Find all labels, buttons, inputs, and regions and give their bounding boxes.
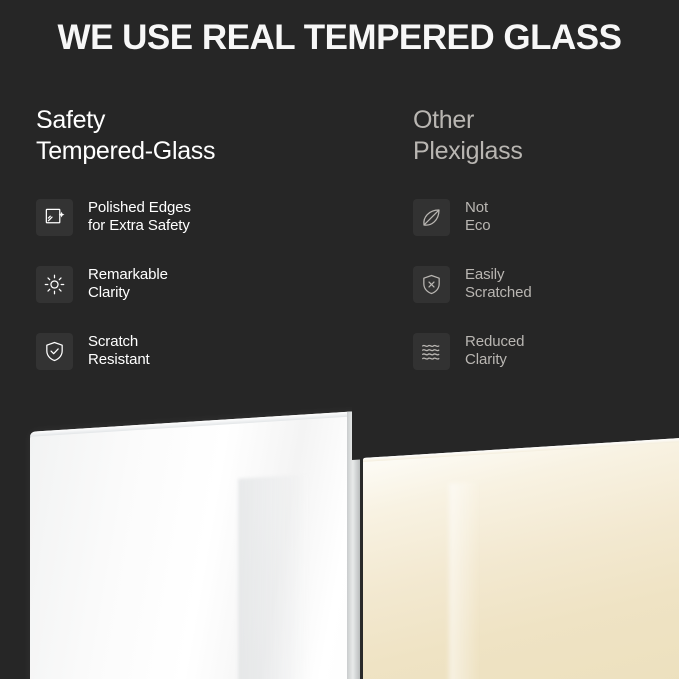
sun-clarity-icon bbox=[36, 266, 73, 303]
column-title-tempered-glass: Safety Tempered-Glass bbox=[36, 105, 336, 167]
column-tempered-glass: Safety Tempered-Glass Polished Edges for… bbox=[36, 105, 336, 396]
feature-list-plexiglass: Not Eco Easily Scratched bbox=[413, 195, 679, 373]
feature-item: Easily Scratched bbox=[413, 262, 679, 306]
tempered-glass-panel bbox=[30, 411, 360, 679]
feature-item: Remarkable Clarity bbox=[36, 262, 336, 306]
column-title-line1: Other bbox=[413, 105, 679, 136]
feature-item: Not Eco bbox=[413, 195, 679, 239]
column-title-line2: Tempered-Glass bbox=[36, 136, 336, 167]
feature-list-tempered-glass: Polished Edges for Extra Safety bbox=[36, 195, 336, 373]
feature-item: Reduced Clarity bbox=[413, 329, 679, 373]
shield-check-icon bbox=[36, 333, 73, 370]
page-title: WE USE REAL TEMPERED GLASS bbox=[0, 18, 679, 58]
yellowed-plexiglass-panel bbox=[363, 437, 679, 679]
feature-label: Remarkable Clarity bbox=[88, 266, 168, 302]
plexi-reflection bbox=[449, 482, 479, 679]
leaf-crossed-out-icon bbox=[413, 199, 450, 236]
feature-label: Polished Edges for Extra Safety bbox=[88, 199, 191, 235]
column-title-plexiglass: Other Plexiglass bbox=[413, 105, 679, 167]
feature-label: Reduced Clarity bbox=[465, 333, 524, 369]
polished-edges-icon bbox=[36, 199, 73, 236]
column-plexiglass: Other Plexiglass Not Eco bbox=[413, 105, 679, 396]
feature-item: Scratch Resistant bbox=[36, 329, 336, 373]
glass-top-bevel bbox=[30, 411, 360, 437]
shield-x-icon bbox=[413, 266, 450, 303]
feature-label: Easily Scratched bbox=[465, 266, 532, 302]
feature-item: Polished Edges for Extra Safety bbox=[36, 195, 336, 239]
product-panels-image bbox=[0, 398, 679, 679]
plexi-top-bevel bbox=[363, 437, 679, 462]
feature-label: Not Eco bbox=[465, 199, 491, 235]
panel-gap-shadow bbox=[352, 398, 376, 460]
wavy-lines-icon bbox=[413, 333, 450, 370]
column-title-line1: Safety bbox=[36, 105, 336, 136]
comparison-columns: Safety Tempered-Glass Polished Edges for… bbox=[0, 105, 679, 405]
feature-label: Scratch Resistant bbox=[88, 333, 150, 369]
glass-reflection bbox=[238, 474, 311, 679]
column-title-line2: Plexiglass bbox=[413, 136, 679, 167]
